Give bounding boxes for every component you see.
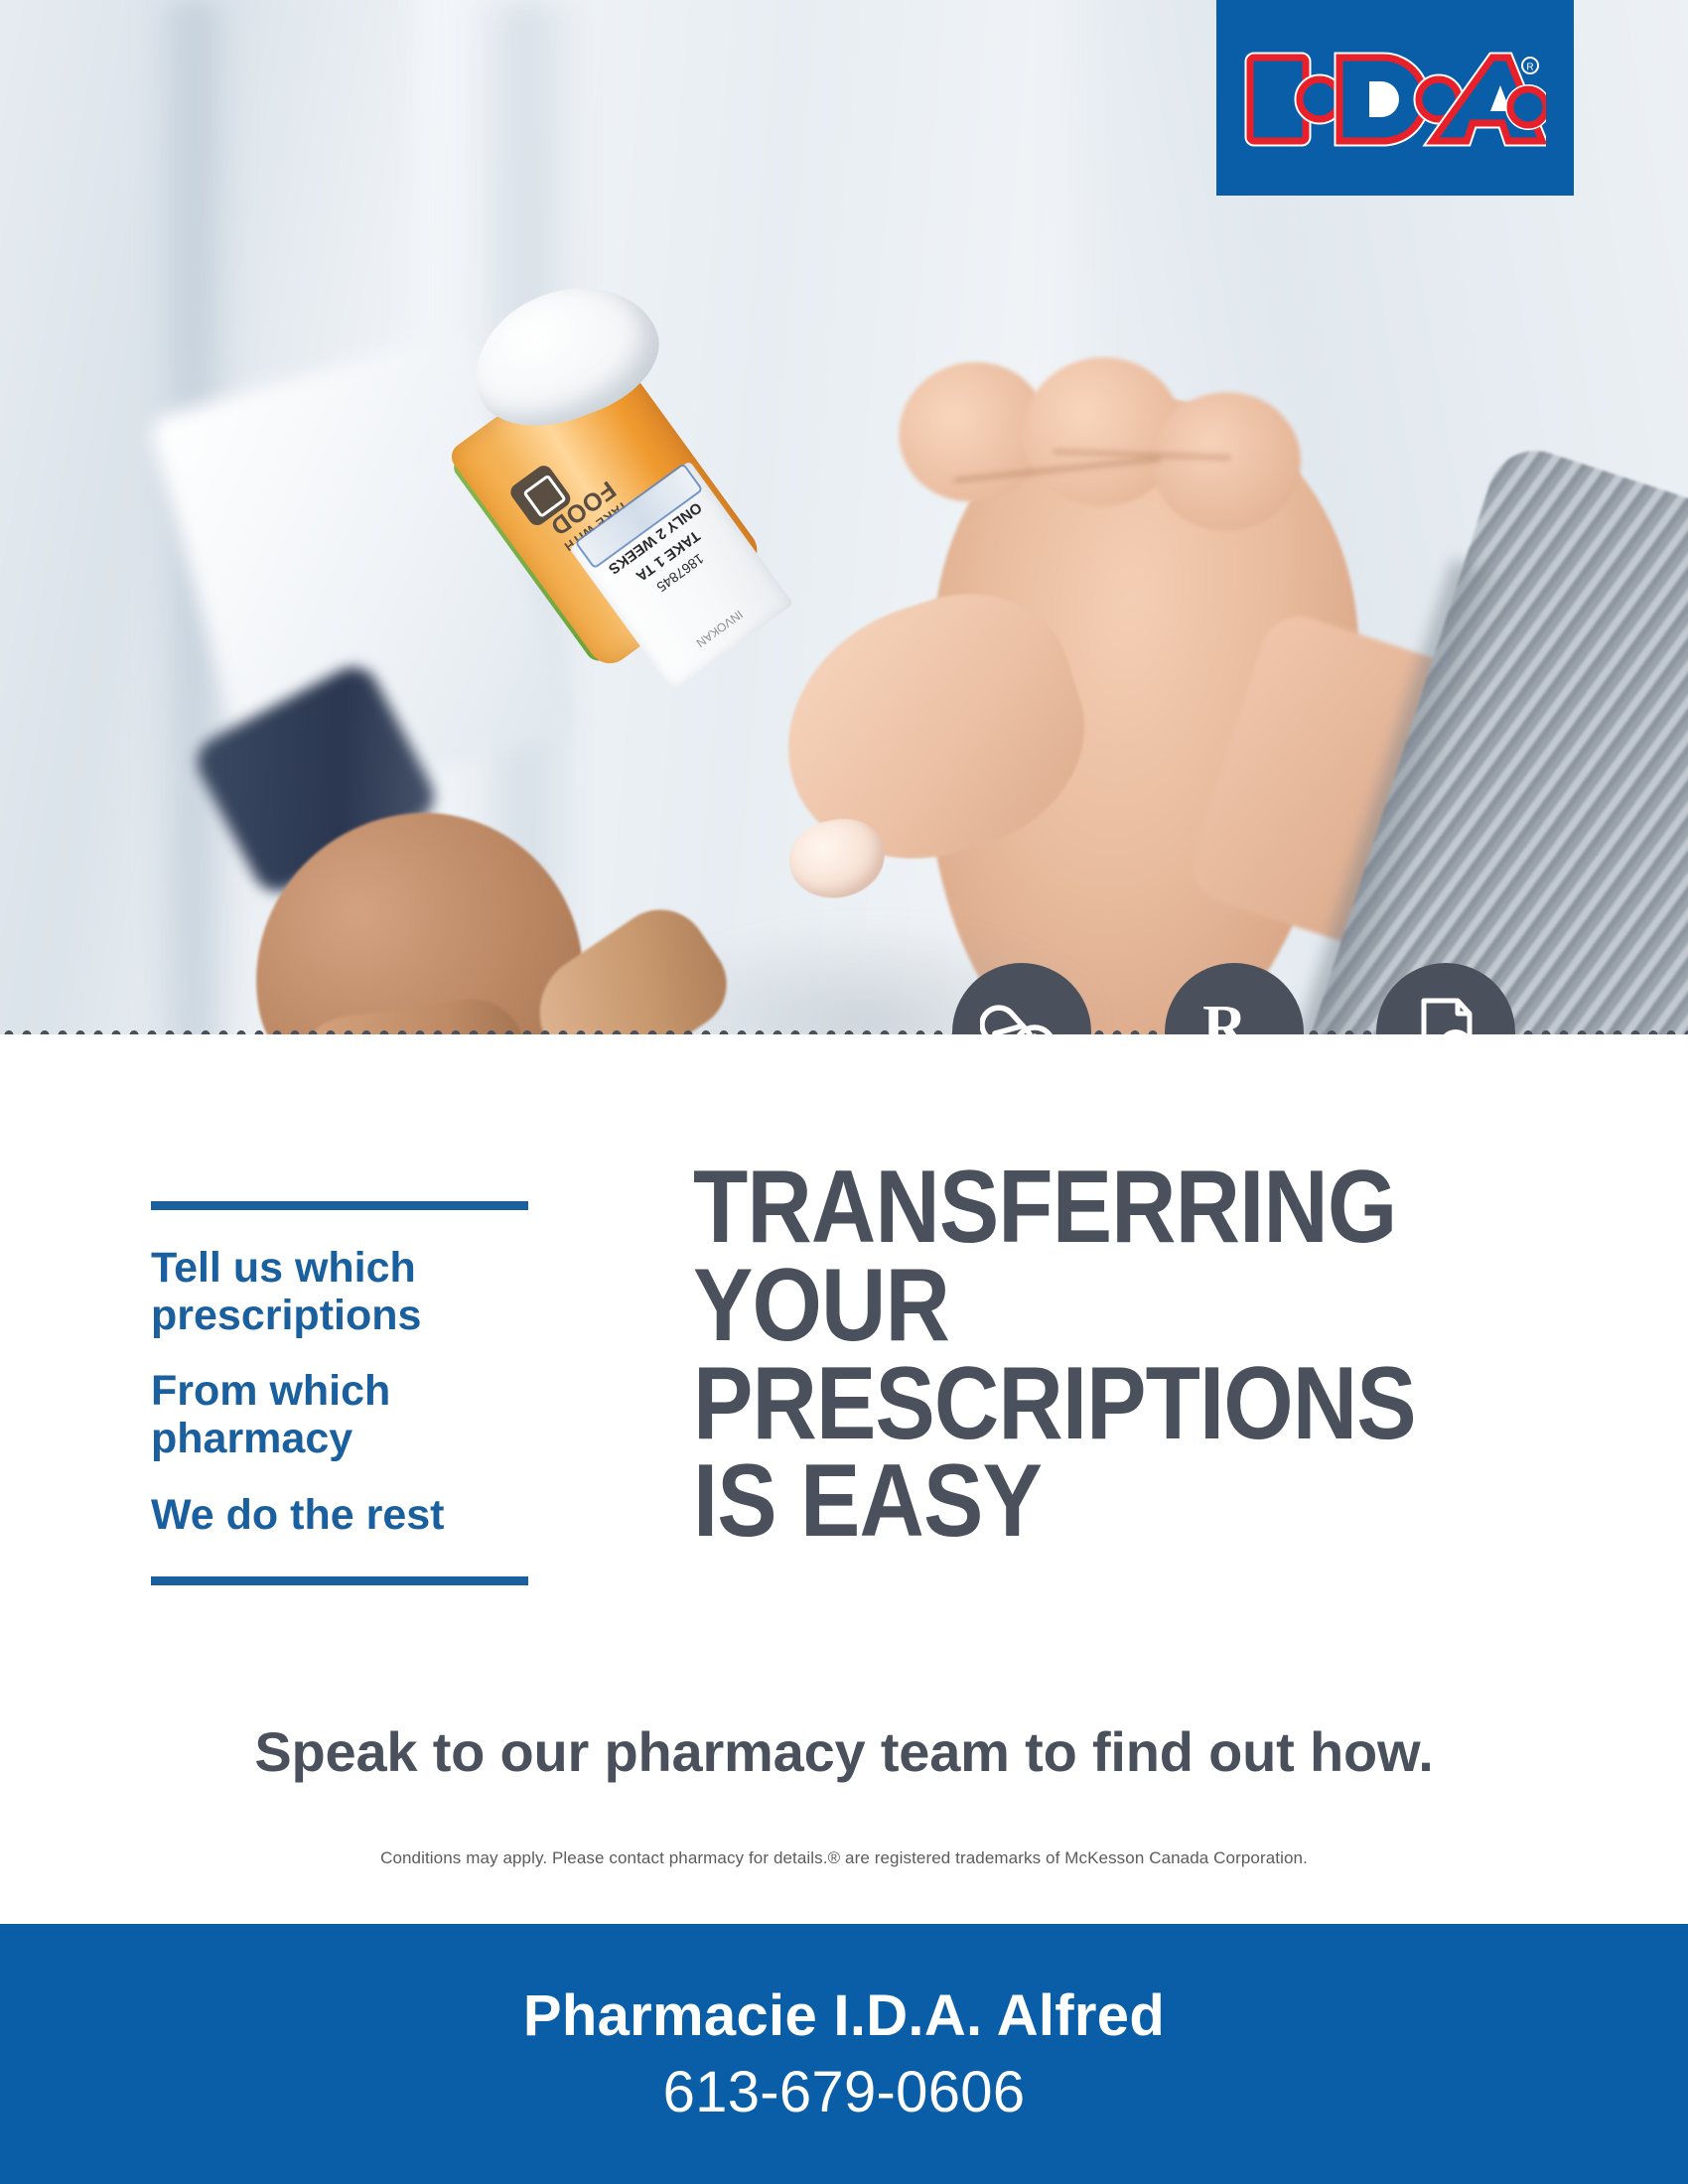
ida-logo: R <box>1216 0 1574 196</box>
pharmacy-footer: Pharmacie I.D.A. Alfred 613-679-0606 <box>0 1924 1688 2184</box>
headline-line-4: IS EASY <box>693 1452 1471 1551</box>
subheadline: Speak to our pharmacy team to find out h… <box>0 1719 1688 1784</box>
steps-rule-bottom <box>151 1576 528 1585</box>
legal-disclaimer: Conditions may apply. Please contact pha… <box>0 1848 1688 1868</box>
step-item-3: We do the rest <box>151 1491 528 1539</box>
page-title: TRANSFERRING YOUR PRESCRIPTIONS IS EASY <box>693 1159 1471 1551</box>
steps-list: Tell us which prescriptions From which p… <box>151 1201 528 1585</box>
steps-rule-top <box>151 1201 528 1210</box>
headline-line-2: YOUR <box>693 1257 1471 1355</box>
svg-text:R: R <box>1526 63 1533 73</box>
step-item-2: From which pharmacy <box>151 1367 528 1462</box>
step-item-1: Tell us which prescriptions <box>151 1244 528 1339</box>
headline-line-3: PRESCRIPTIONS <box>693 1355 1471 1453</box>
headline-line-1: TRANSFERRING <box>693 1159 1471 1257</box>
ida-logo-icon: R <box>1244 52 1546 147</box>
pharmacy-name: Pharmacie I.D.A. Alfred <box>523 1982 1165 2049</box>
pharmacy-phone[interactable]: 613-679-0606 <box>663 2059 1026 2125</box>
